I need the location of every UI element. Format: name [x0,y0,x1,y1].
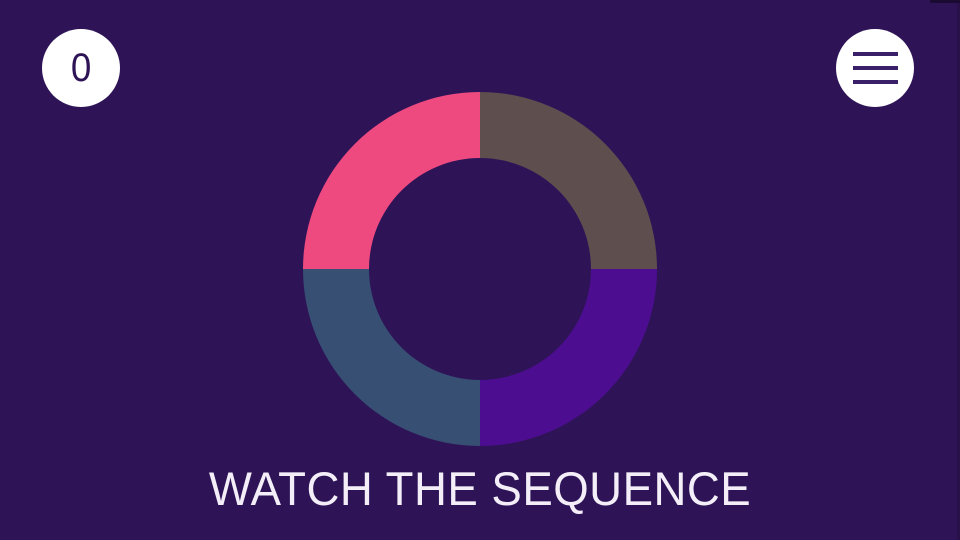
game-screen: 0 WATCH THE SEQUENCE [0,0,960,540]
donut-segment-bottom-right[interactable] [480,269,657,446]
status-message: WATCH THE SEQUENCE [14,458,945,520]
top-right-edge-strip [930,0,960,3]
score-value: 0 [71,48,91,88]
donut-segment-top-left[interactable] [303,92,480,269]
donut-segment-bottom-left[interactable] [303,269,480,446]
hamburger-bar-bottom [853,80,898,84]
score-badge: 0 [42,29,120,107]
sequence-donut [303,92,657,446]
hamburger-menu-icon [853,52,898,84]
hamburger-bar-top [853,52,898,56]
hamburger-bar-middle [853,66,898,70]
menu-button[interactable] [836,29,914,107]
donut-segment-top-right[interactable] [480,92,657,269]
